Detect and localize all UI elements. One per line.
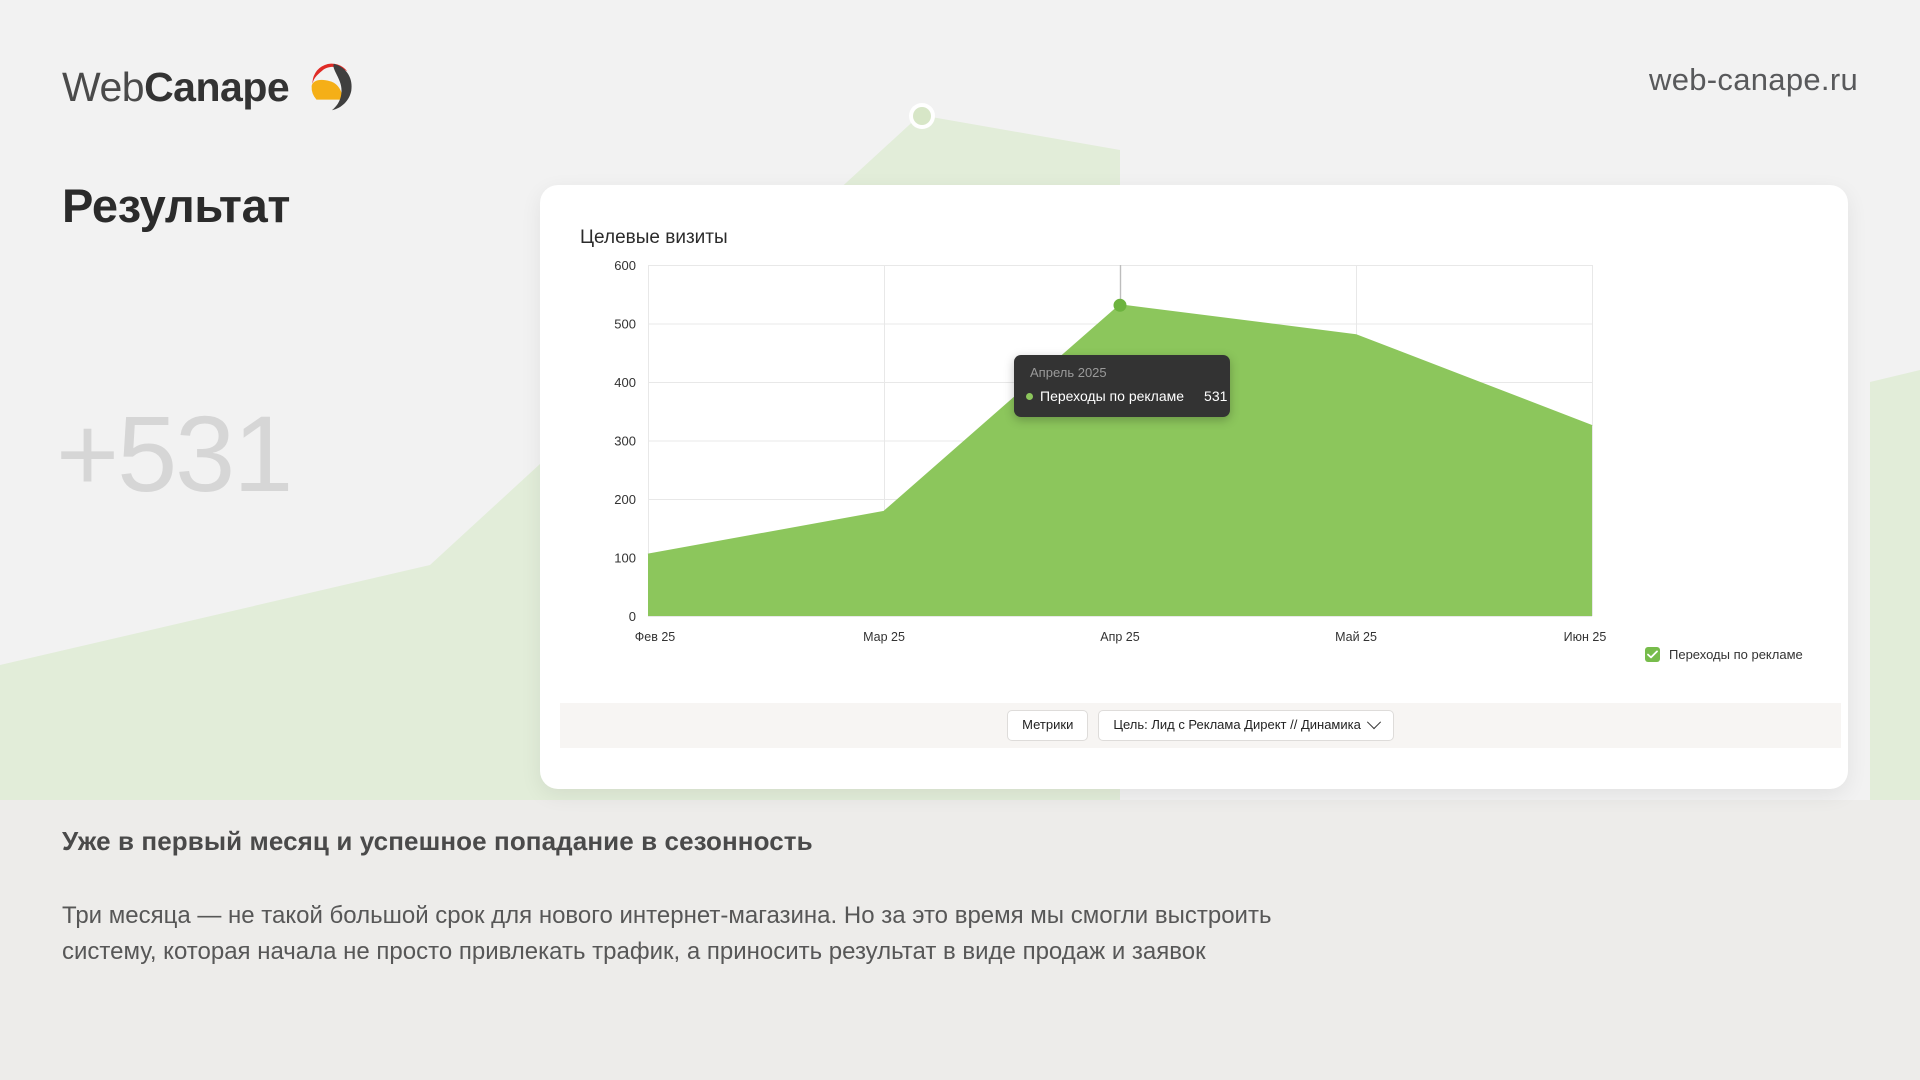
caption-headline: Уже в первый месяц и успешное попадание … — [62, 826, 813, 857]
caption-body-line-2: систему, которая начала не просто привле… — [62, 934, 1852, 970]
canape-circle-logo-icon — [299, 58, 361, 116]
caption-body-line-1: Три месяца — не такой большой срок для н… — [62, 898, 1852, 934]
y-axis-tick-labels: 600 500 400 300 200 100 0 — [614, 258, 636, 624]
x-axis-tick-labels: Фев 25 Мар 25 Апр 25 Май 25 Июн 25 — [635, 630, 1607, 644]
brand-logo-text-web: Web — [62, 64, 144, 110]
chart-plot[interactable]: 600 500 400 300 200 100 0 Фев 25 Мар 25 … — [540, 185, 1848, 685]
svg-text:Мар 25: Мар 25 — [863, 630, 905, 644]
chart-legend-item[interactable]: Переходы по рекламе — [1645, 647, 1803, 662]
chart-toolbar: Метрики Цель: Лид с Реклама Директ // Ди… — [560, 703, 1841, 748]
tooltip-series-name: Переходы по рекламе — [1040, 388, 1184, 404]
svg-text:600: 600 — [614, 258, 636, 273]
tooltip-series-value: 531 — [1204, 388, 1227, 404]
metric-delta: +531 — [56, 400, 291, 508]
brand-logo-text: WebCanape — [62, 64, 289, 111]
goal-select[interactable]: Цель: Лид с Реклама Директ // Динамика — [1098, 710, 1394, 740]
series-area-perehody-po-reklame — [648, 305, 1592, 616]
hover-data-point[interactable] — [1114, 299, 1126, 311]
tooltip-series-row: Переходы по рекламе 531 — [1026, 388, 1227, 404]
svg-text:0: 0 — [629, 609, 636, 624]
svg-text:100: 100 — [614, 551, 636, 566]
tooltip-series-dot-icon — [1026, 393, 1033, 400]
svg-text:400: 400 — [614, 375, 636, 390]
page-title: Результат — [62, 178, 290, 233]
chart-tooltip: Апрель 2025 Переходы по рекламе 531 — [1014, 355, 1230, 417]
analytics-chart-card: Целевые визиты 600 500 400 300 — [540, 185, 1848, 789]
goal-select-label: Цель: Лид с Реклама Директ // Динамика — [1113, 718, 1361, 732]
caption-body: Три месяца — не такой большой срок для н… — [62, 898, 1852, 971]
chevron-down-icon — [1367, 716, 1381, 730]
deco-node-dot — [913, 107, 931, 125]
svg-text:500: 500 — [614, 317, 636, 332]
svg-text:Апр 25: Апр 25 — [1100, 630, 1139, 644]
svg-text:Май 25: Май 25 — [1335, 630, 1377, 644]
svg-text:Фев 25: Фев 25 — [635, 630, 676, 644]
svg-text:200: 200 — [614, 492, 636, 507]
brand-logo-text-canape: Canape — [144, 64, 289, 110]
metrics-button[interactable]: Метрики — [1007, 710, 1088, 740]
site-url: web-canape.ru — [1649, 62, 1858, 98]
checkbox-checked-icon[interactable] — [1645, 647, 1660, 662]
svg-text:300: 300 — [614, 434, 636, 449]
tooltip-date: Апрель 2025 — [1030, 365, 1107, 380]
chart-legend-label: Переходы по рекламе — [1669, 647, 1803, 662]
brand-logo[interactable]: WebCanape — [62, 58, 361, 116]
svg-text:Июн 25: Июн 25 — [1564, 630, 1607, 644]
